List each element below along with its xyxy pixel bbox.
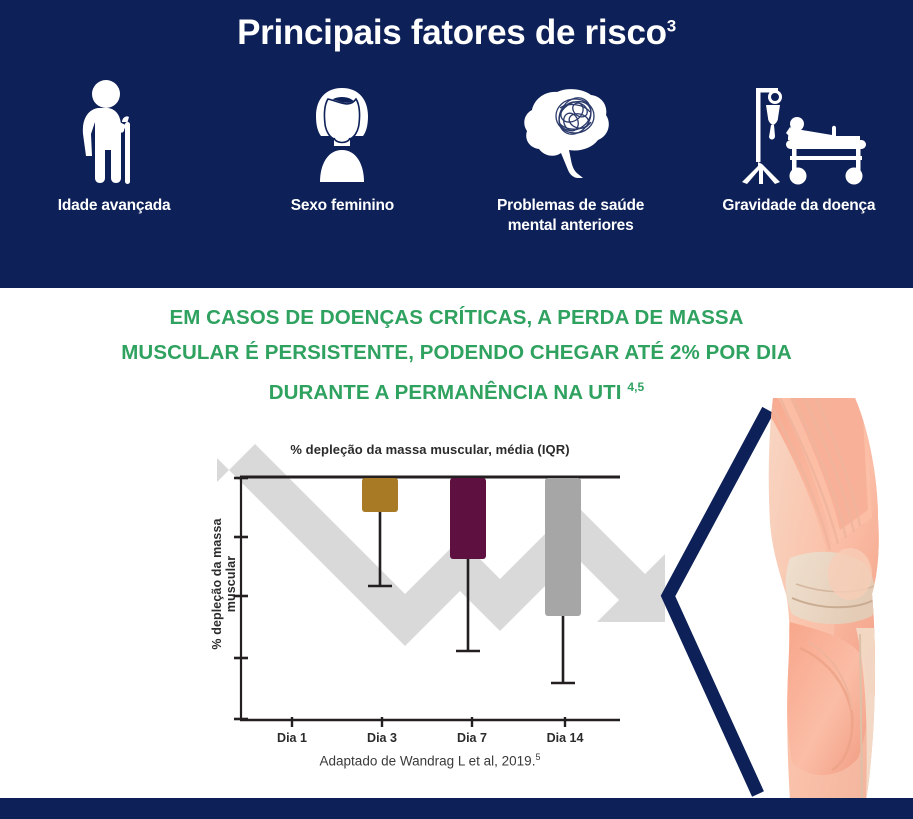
- header-panel: Principais fatores de risco3: [0, 0, 913, 288]
- x-tick-label-1: Dia 3: [367, 731, 397, 745]
- muscle-depletion-chart: % depleção da massa muscular, média (IQR…: [195, 420, 665, 800]
- risk-factor-label: Gravidade da doença: [722, 196, 875, 216]
- risk-factor-idade-avancada: Idade avançada: [6, 78, 222, 216]
- elderly-person-with-cane-icon: [68, 78, 160, 186]
- x-tick-label-3: Dia 14: [547, 731, 584, 745]
- page-title-text: Principais fatores de risco: [237, 13, 667, 52]
- risk-factor-label: Sexo feminino: [291, 196, 394, 216]
- headline-line-3-text: DURANTE A PERMANÊNCIA NA UTI: [269, 381, 628, 404]
- headline-block: EM CASOS DE DOENÇAS CRÍTICAS, A PERDA DE…: [0, 300, 913, 410]
- female-avatar-icon: [296, 78, 388, 186]
- chart-source-superscript: 5: [535, 752, 540, 762]
- risk-factor-label: Idade avançada: [58, 196, 171, 216]
- risk-factor-saude-mental: Problemas de saúde mental anteriores: [463, 78, 679, 236]
- risk-factor-gravidade-doenca: Gravidade da doença: [691, 78, 907, 216]
- headline-superscript: 4,5: [627, 380, 644, 394]
- downward-trend-arrow: [217, 444, 665, 646]
- bar-dia-3: [362, 478, 398, 512]
- headline-line-1: EM CASOS DE DOENÇAS CRÍTICAS, A PERDA DE…: [0, 300, 913, 335]
- leg-anatomy-body: [760, 398, 913, 800]
- chart-x-tick-labels: Dia 1 Dia 3 Dia 7 Dia 14: [277, 731, 583, 745]
- risk-factors-row: Idade avançada: [0, 78, 913, 236]
- x-tick-label-2: Dia 7: [457, 731, 487, 745]
- headline-line-2: MUSCULAR É PERSISTENTE, PODENDO CHEGAR A…: [0, 335, 913, 370]
- page-title: Principais fatores de risco3: [0, 14, 913, 53]
- bar-dia-14: [545, 478, 581, 616]
- risk-factor-label: Problemas de saúde mental anteriores: [497, 196, 644, 236]
- chart-source-text: Adaptado de Wandrag L et al, 2019.: [320, 754, 536, 769]
- navy-diamond-outline: [668, 410, 768, 794]
- x-tick-label-0: Dia 1: [277, 731, 307, 745]
- brain-tangled-thoughts-icon: [516, 78, 626, 186]
- navy-footer-bar: [0, 798, 913, 819]
- risk-factor-sexo-feminino: Sexo feminino: [234, 78, 450, 216]
- bar-dia-7: [450, 478, 486, 559]
- page-title-superscript: 3: [667, 16, 676, 35]
- knee-leg-muscle-anatomy-image: [640, 398, 913, 800]
- chart-plot-area: Dia 1 Dia 3 Dia 7 Dia 14: [195, 420, 665, 750]
- slide-root: Principais fatores de risco3: [0, 0, 913, 819]
- chart-source-caption: Adaptado de Wandrag L et al, 2019.5: [195, 752, 665, 769]
- hospital-bed-with-iv-drip-icon: [728, 78, 870, 186]
